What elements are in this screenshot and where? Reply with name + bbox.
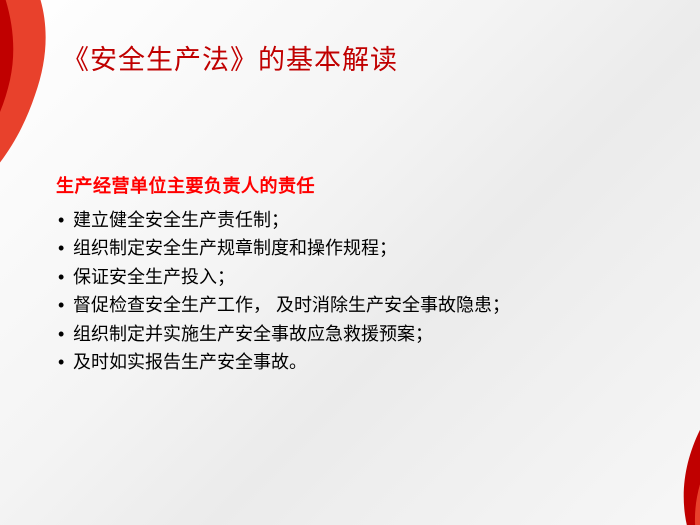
list-item-text: 建立健全安全生产责任制； (73, 210, 289, 230)
list-item-text: 组织制定并实施生产安全事故应急救援预案； (73, 324, 433, 344)
bullet-icon: • (58, 291, 64, 319)
list-item: •督促检查安全生产工作， 及时消除生产安全事故隐患； (56, 291, 656, 319)
decorative-ribbon-top-left (0, 0, 130, 190)
list-item: •组织制定安全生产规章制度和操作规程； (56, 234, 656, 262)
list-item: •及时如实报告生产安全事故。 (56, 348, 656, 376)
decorative-ribbon-bottom-right (550, 365, 700, 525)
list-item: •组织制定并实施生产安全事故应急救援预案； (56, 320, 656, 348)
list-item-text: 组织制定安全生产规章制度和操作规程； (73, 238, 397, 258)
slide: 《安全生产法》的基本解读 生产经营单位主要负责人的责任 •建立健全安全生产责任制… (0, 0, 700, 525)
list-item: •保证安全生产投入； (56, 263, 656, 291)
bullet-icon: • (58, 320, 64, 348)
list-item-text: 督促检查安全生产工作， 及时消除生产安全事故隐患； (73, 295, 510, 315)
content-block: 生产经营单位主要负责人的责任 •建立健全安全生产责任制； •组织制定安全生产规章… (56, 172, 656, 377)
bullet-icon: • (58, 234, 64, 262)
section-subheading: 生产经营单位主要负责人的责任 (56, 172, 656, 198)
page-title: 《安全生产法》的基本解读 (62, 38, 398, 77)
bullet-icon: • (58, 263, 64, 291)
bullet-icon: • (58, 206, 64, 234)
list-item-text: 保证安全生产投入； (73, 267, 235, 287)
bullet-list: •建立健全安全生产责任制； •组织制定安全生产规章制度和操作规程； •保证安全生… (56, 206, 656, 377)
bullet-icon: • (58, 348, 64, 376)
list-item: •建立健全安全生产责任制； (56, 206, 656, 234)
list-item-text: 及时如实报告生产安全事故。 (73, 352, 307, 372)
